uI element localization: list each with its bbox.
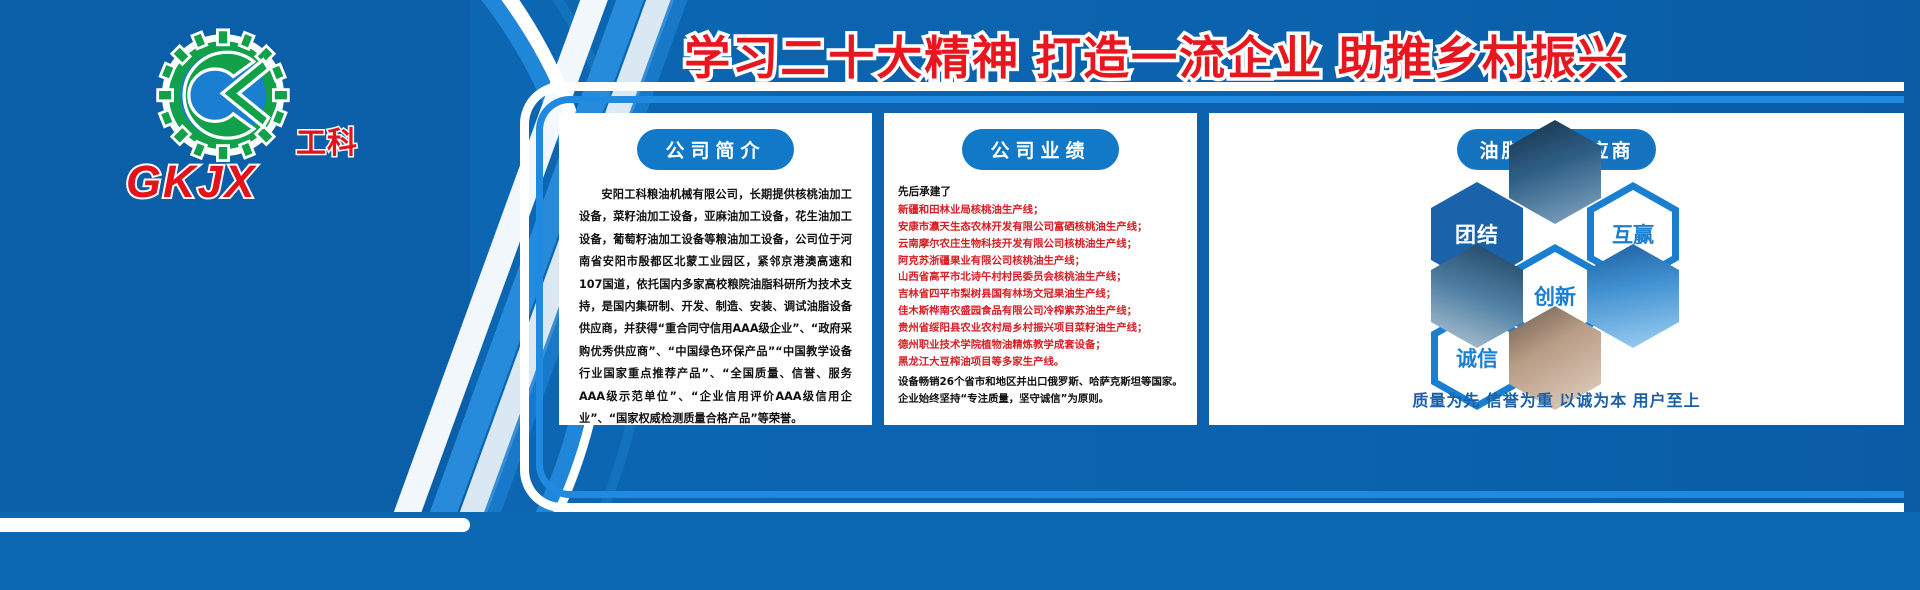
achievement-item: 德州职业技术学院植物油精炼教学成套设备； xyxy=(898,337,1197,354)
profile-body-text: 安阳工科粮油机械有限公司，长期提供核桃油加工设备，菜籽油加工设备，亚麻油加工设备… xyxy=(579,184,852,430)
achievements-lead-text: 先后承建了 xyxy=(898,184,1197,199)
achievement-item: 新疆和田林业局核桃油生产线； xyxy=(898,202,1197,219)
banner-canvas: 工科 GKJX 学习二十大精神 打造一流企业 助推乡村振兴 公司简介 安阳工科粮… xyxy=(0,0,1920,590)
hexagon-cluster: 团结 互赢 创新 诚信 xyxy=(1209,174,1904,374)
achievement-footnote: 设备畅销26个省市和地区并出口俄罗斯、哈萨克斯坦等国家。 xyxy=(898,374,1197,391)
panel-oil-equipment-supplier: 油脂设备供应商 团结 互赢 创新 诚信 质量为先 信誉为重 以诚为本 用户至上 xyxy=(1209,113,1904,425)
achievement-footnote: 企业始终坚持“专注质量，坚守诚信”为原则。 xyxy=(898,391,1197,408)
logo-latin-text: GKJX xyxy=(126,156,257,208)
gear-logo-icon xyxy=(148,28,298,168)
achievement-item: 云南摩尔农庄生物科技开发有限公司核桃油生产线； xyxy=(898,236,1197,253)
bottom-white-accent xyxy=(0,518,470,532)
achievement-item: 黑龙江大豆榨油项目等多家生产线。 xyxy=(898,354,1197,371)
achievements-list: 新疆和田林业局核桃油生产线；安康市瀛天生态农林开发有限公司富硒核桃油生产线；云南… xyxy=(898,202,1197,370)
achievement-item: 佳木斯桦南农盛园食品有限公司冷榨紫苏油生产线； xyxy=(898,303,1197,320)
achievement-item: 阿克苏浙疆果业有限公司核桃油生产线； xyxy=(898,253,1197,270)
panel-company-profile: 公司简介 安阳工科粮油机械有限公司，长期提供核桃油加工设备，菜籽油加工设备，亚麻… xyxy=(559,113,872,425)
achievement-item: 安康市瀛天生态农林开发有限公司富硒核桃油生产线； xyxy=(898,219,1197,236)
achievement-item: 贵州省绥阳县农业农村局乡村振兴项目菜籽油生产线； xyxy=(898,320,1197,337)
achievement-item: 山西省高平市北诗午村村民委员会核桃油生产线； xyxy=(898,269,1197,286)
panel-company-achievements: 公司业绩 先后承建了 新疆和田林业局核桃油生产线；安康市瀛天生态农林开发有限公司… xyxy=(884,113,1197,425)
page-title: 学习二十大精神 打造一流企业 助推乡村振兴 xyxy=(430,22,1880,88)
company-logo: 工科 GKJX xyxy=(120,28,350,213)
logo-chinese-text: 工科 xyxy=(296,118,358,162)
achievements-footnotes: 设备畅销26个省市和地区并出口俄罗斯、哈萨克斯坦等国家。企业始终坚持“专注质量，… xyxy=(898,374,1197,408)
achievements-title-pill: 公司业绩 xyxy=(964,131,1116,168)
achievement-item: 吉林省四平市梨树县国有林场文冠果油生产线； xyxy=(898,286,1197,303)
profile-title-pill: 公司简介 xyxy=(639,131,791,168)
supplier-slogan: 质量为先 信誉为重 以诚为本 用户至上 xyxy=(1209,387,1904,411)
